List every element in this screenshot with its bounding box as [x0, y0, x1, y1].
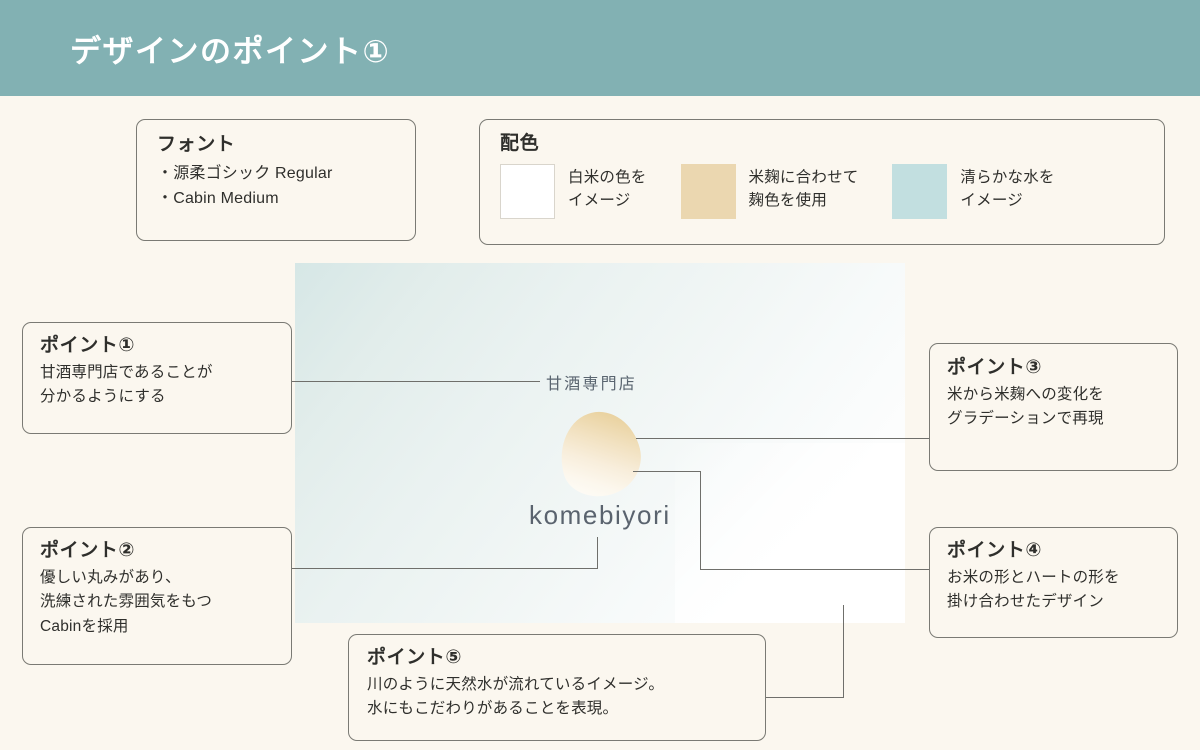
page-title: デザインのポイント① — [70, 26, 390, 71]
color-swatch-blue — [892, 164, 947, 219]
connector-point-4-vertical — [700, 471, 701, 570]
point-card-3-line-1: 米から米麹への変化を — [947, 383, 1177, 407]
connector-point-5-vertical — [843, 605, 844, 698]
point-card-5: ポイント⑤ 川のように天然水が流れているイメージ。 水にもこだわりがあることを表… — [348, 634, 766, 741]
swatch-label-white: 白米の色を イメージ — [568, 164, 647, 213]
palette-card-title: 配色 — [500, 133, 1164, 156]
connector-point-1 — [292, 381, 540, 382]
swatch-label-blue-line1: 清らかな水を — [960, 166, 1054, 189]
swatch-label-blue-line2: イメージ — [960, 189, 1054, 212]
color-palette-card: 配色 白米の色を イメージ 米麹に合わせて 麹色を使用 清らかな水を — [479, 119, 1165, 245]
point-card-2: ポイント② 優しい丸みがあり、 洗練された雰囲気をもつ Cabinを採用 — [22, 527, 292, 665]
point-card-4-title: ポイント④ — [947, 540, 1177, 563]
point-card-5-title: ポイント⑤ — [367, 647, 765, 670]
point-card-2-title: ポイント② — [40, 540, 291, 563]
swatch-item-beige: 米麹に合わせて 麹色を使用 — [681, 164, 859, 219]
connector-point-4-horizontal — [700, 569, 930, 570]
point-card-4-line-1: お米の形とハートの形を — [947, 566, 1177, 590]
point-card-2-line-3: Cabinを採用 — [40, 615, 291, 639]
point-card-3: ポイント③ 米から米麹への変化を グラデーションで再現 — [929, 343, 1178, 471]
swatch-label-white-line2: イメージ — [568, 189, 647, 212]
point-card-5-line-1: 川のように天然水が流れているイメージ。 — [367, 673, 765, 697]
swatch-item-white: 白米の色を イメージ — [500, 164, 647, 219]
connector-point-4-stub — [633, 471, 701, 472]
point-card-1-line-1: 甘酒専門店であることが — [40, 361, 291, 385]
point-card-3-title: ポイント③ — [947, 357, 1177, 380]
font-card-line-2: ・Cabin Medium — [157, 186, 415, 212]
swatch-label-beige-line1: 米麹に合わせて — [749, 166, 859, 189]
point-card-3-line-2: グラデーションで再現 — [947, 407, 1177, 431]
connector-point-2-horizontal — [292, 568, 598, 569]
point-card-4-line-2: 掛け合わせたデザイン — [947, 590, 1177, 614]
font-spec-card: フォント ・源柔ゴシック Regular ・Cabin Medium — [136, 119, 416, 241]
logo-tagline: 甘酒専門店 — [546, 370, 637, 394]
point-card-2-line-1: 優しい丸みがあり、 — [40, 566, 291, 590]
point-card-5-line-2: 水にもこだわりがあることを表現。 — [367, 697, 765, 721]
slide-canvas: デザインのポイント① フォント ・源柔ゴシック Regular ・Cabin M… — [0, 0, 1200, 750]
point-card-1-line-2: 分かるようにする — [40, 385, 291, 409]
point-card-2-line-2: 洗練された雰囲気をもつ — [40, 590, 291, 614]
connector-point-3 — [636, 438, 930, 439]
font-card-line-1: ・源柔ゴシック Regular — [157, 161, 415, 187]
color-swatch-beige — [681, 164, 736, 219]
swatch-label-blue: 清らかな水を イメージ — [960, 164, 1054, 213]
connector-point-5-horizontal — [765, 697, 844, 698]
swatch-label-white-line1: 白米の色を — [568, 166, 647, 189]
font-card-title: フォント — [157, 134, 415, 157]
swatch-label-beige: 米麹に合わせて 麹色を使用 — [749, 164, 859, 213]
logo-wordmark: komebiyori — [529, 500, 671, 531]
connector-point-2-vertical — [597, 537, 598, 569]
point-card-1-title: ポイント① — [40, 335, 291, 358]
point-card-4: ポイント④ お米の形とハートの形を 掛け合わせたデザイン — [929, 527, 1178, 638]
point-card-1: ポイント① 甘酒専門店であることが 分かるようにする — [22, 322, 292, 434]
swatch-row: 白米の色を イメージ 米麹に合わせて 麹色を使用 清らかな水を イメージ — [500, 164, 1164, 219]
swatch-label-beige-line2: 麹色を使用 — [749, 189, 859, 212]
color-swatch-white — [500, 164, 555, 219]
swatch-item-blue: 清らかな水を イメージ — [892, 164, 1054, 219]
header-bar: デザインのポイント① — [0, 0, 1200, 96]
